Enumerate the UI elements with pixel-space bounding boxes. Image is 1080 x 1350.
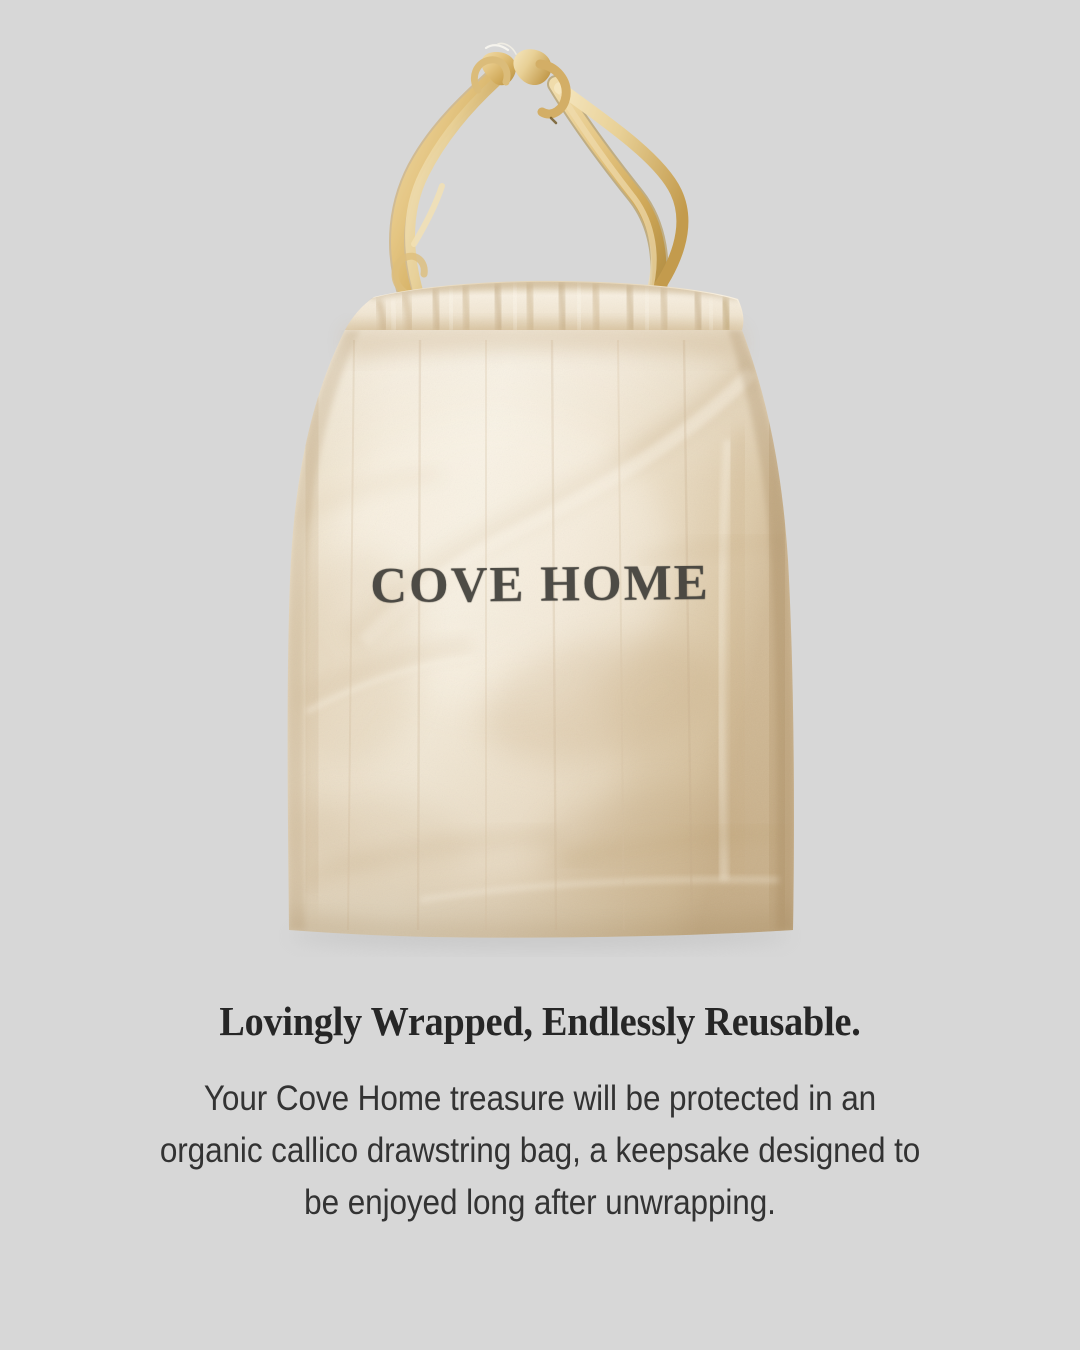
headline: Lovingly Wrapped, Endlessly Reusable. (38, 995, 1042, 1047)
caption-block: Lovingly Wrapped, Endlessly Reusable. Yo… (0, 995, 1080, 1229)
drawstring-bag-illustration (0, 0, 1080, 960)
body-copy: Your Cove Home treasure will be protecte… (108, 1073, 972, 1229)
bag-body (269, 278, 800, 949)
product-promo-card: COVE HOME Lovingly Wrapped, Endlessly Re… (0, 0, 1080, 1350)
product-photo: COVE HOME (0, 0, 1080, 960)
drawstring-cords (395, 43, 682, 306)
